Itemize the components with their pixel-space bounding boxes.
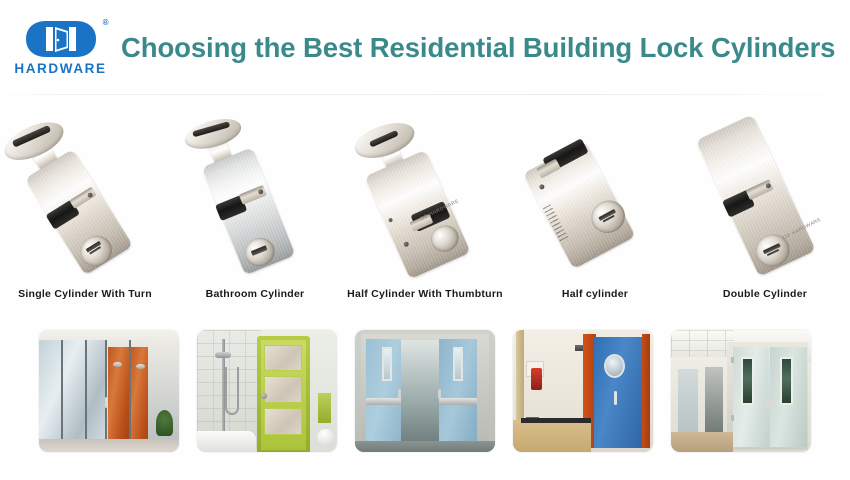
- product-label-double-cylinder: Double Cylinder: [680, 288, 850, 312]
- product-label-row: Single Cylinder With Turn Bathroom Cylin…: [0, 288, 850, 312]
- product-image-half-cylinder-with-thumbturn: DD HARDWARE: [340, 100, 510, 285]
- product-label-half-cylinder: Half cylinder: [510, 288, 680, 312]
- product-label-half-cylinder-with-thumbturn: Half Cylinder With Thumbturn: [340, 288, 510, 312]
- dd-hardware-logo-icon: ®: [22, 19, 100, 59]
- product-image-half-cylinder: [510, 100, 680, 285]
- brand-wordmark: HARDWARE: [14, 61, 106, 76]
- application-photo-office-glass-partition-corridor: [39, 330, 179, 452]
- application-photo-blue-fire-door-with-porthole: [513, 330, 653, 452]
- product-label-single-cylinder-with-turn: Single Cylinder With Turn: [0, 288, 170, 312]
- registered-trademark-icon: ®: [103, 18, 109, 27]
- application-photo-hospital-blue-double-doors: [355, 330, 495, 452]
- product-image-row: DD HARDWARE: [0, 100, 850, 285]
- application-photo-row: [0, 330, 850, 455]
- header-divider: [0, 94, 850, 95]
- application-photo-pale-green-double-doors-corridor: [671, 330, 811, 452]
- page-header: ® HARDWARE Choosing the Best Residential…: [0, 0, 850, 95]
- page-title: Choosing the Best Residential Building L…: [121, 32, 850, 64]
- application-photo-bathroom-green-door: [197, 330, 337, 452]
- brand-logo: ® HARDWARE: [8, 19, 113, 76]
- poster-page: ® HARDWARE Choosing the Best Residential…: [0, 0, 850, 480]
- product-image-single-cylinder-with-turn: [0, 100, 170, 285]
- product-image-double-cylinder: DD HARDWARE: [680, 100, 850, 285]
- product-label-bathroom-cylinder: Bathroom Cylinder: [170, 288, 340, 312]
- product-image-bathroom-cylinder: [170, 100, 340, 285]
